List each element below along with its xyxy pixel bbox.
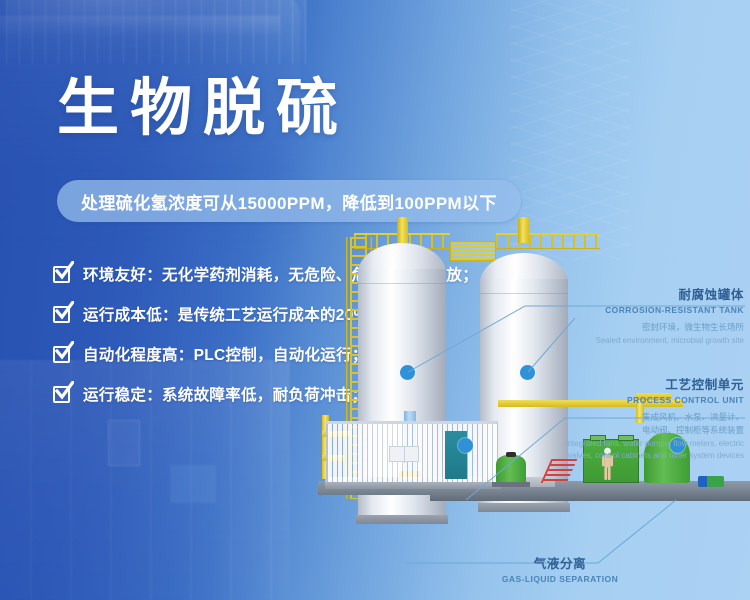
building-base <box>325 482 501 489</box>
annotation-en-desc: Sealed environment, microbial growth sit… <box>514 335 744 347</box>
hotspot-dot-tank-left[interactable] <box>400 365 415 380</box>
annotation-cn-title: 耐腐蚀罐体 <box>514 284 744 303</box>
tank-base <box>356 515 448 524</box>
annotation-en-desc-line1: Integrated fans, water pumps, flow meter… <box>509 438 744 450</box>
hotspot-dot-control-unit[interactable] <box>458 438 473 453</box>
annotation-en-desc-line2: valves, control cabinets and other syste… <box>509 450 744 462</box>
annotation-en-title: PROCESS CONTROL UNIT <box>509 395 744 405</box>
poster-stage: 生物脱硫 处理硫化氢浓度可从15000PPM，降低到100PPM以下 环境友好：… <box>0 0 750 600</box>
subtitle-text: 处理硫化氢浓度可从15000PPM，降低到100PPM以下 <box>81 189 497 214</box>
annotation-cn-title: 工艺控制单元 <box>509 374 744 393</box>
annotation-process-control-unit: 工艺控制单元 PROCESS CONTROL UNIT 集成风机、水泵、流量计、… <box>509 374 744 462</box>
annotation-en-title: CORROSION-RESISTANT TANK <box>514 305 744 315</box>
tank-base <box>478 503 570 512</box>
ground-platform-rear <box>430 491 750 501</box>
green-tank-small-base <box>492 482 530 487</box>
control-container-building <box>326 421 498 483</box>
annotation-cn-desc: 密封环境，微生物生长场所 <box>514 321 744 334</box>
annotation-corrosion-resistant-tank: 耐腐蚀罐体 CORROSION-RESISTANT TANK 密封环境，微生物生… <box>514 284 744 346</box>
annotation-cn-desc-line1: 集成风机、水泵、流量计、 <box>509 411 744 424</box>
checkbox-checked-icon <box>53 385 72 404</box>
pump-unit <box>698 476 724 487</box>
page-title: 生物脱硫 <box>57 78 349 140</box>
vent-pipe-right <box>518 217 529 243</box>
checkbox-checked-icon <box>53 265 72 284</box>
connecting-bridge <box>450 241 496 261</box>
checkbox-checked-icon <box>53 345 72 364</box>
annotation-gas-liquid-separation: 气液分离 GAS-LIQUID SEPARATION <box>470 553 650 584</box>
control-panel <box>389 446 419 462</box>
annotation-cn-desc-line2: 电动阀、控制柜等系统装置 <box>509 424 744 437</box>
annotation-cn-title: 气液分离 <box>470 553 650 572</box>
tank-seam <box>358 283 446 284</box>
top-railing-right <box>496 233 600 249</box>
annotation-en-title: GAS-LIQUID SEPARATION <box>470 574 650 584</box>
vent-pipe-left <box>397 217 408 243</box>
checkbox-checked-icon <box>53 305 72 324</box>
